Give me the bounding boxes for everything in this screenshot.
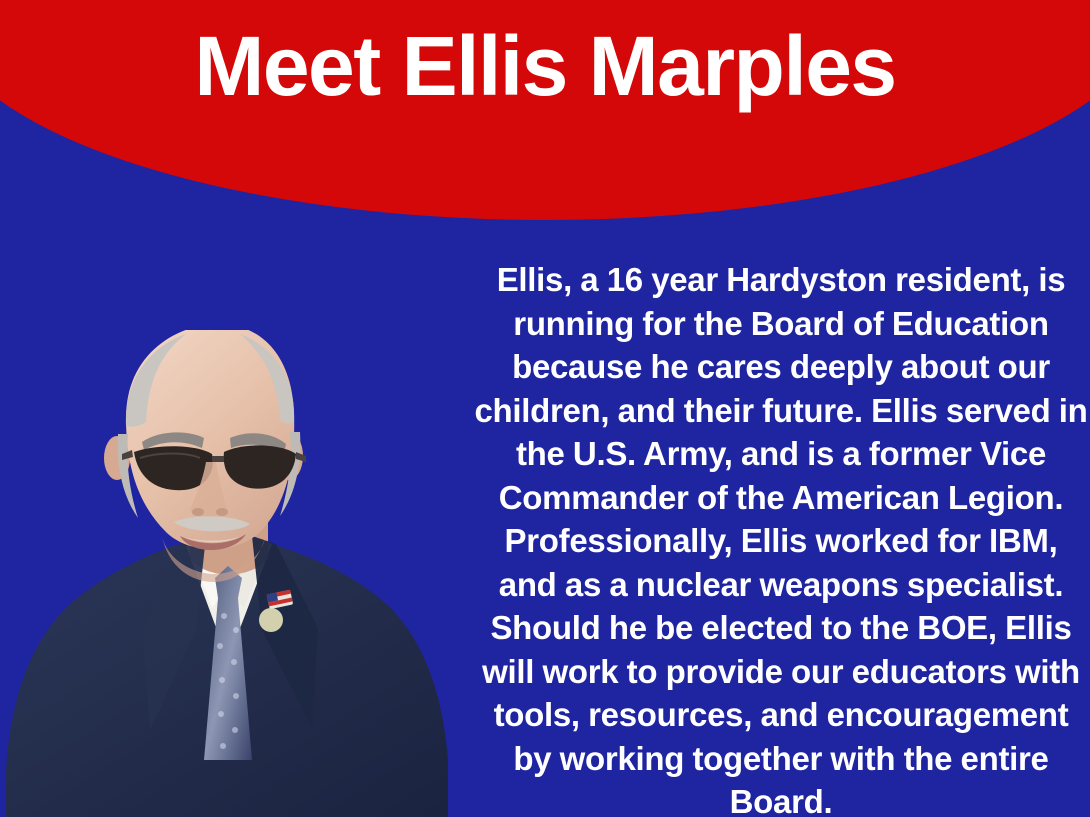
campaign-poster: Meet Ellis Marples bbox=[0, 0, 1090, 817]
page-title: Meet Ellis Marples bbox=[0, 18, 1090, 114]
bio-paragraph: Ellis, a 16 year Hardyston resident, is … bbox=[472, 258, 1090, 817]
candidate-portrait bbox=[0, 330, 460, 817]
bio-text-block: Ellis, a 16 year Hardyston resident, is … bbox=[472, 258, 1090, 817]
